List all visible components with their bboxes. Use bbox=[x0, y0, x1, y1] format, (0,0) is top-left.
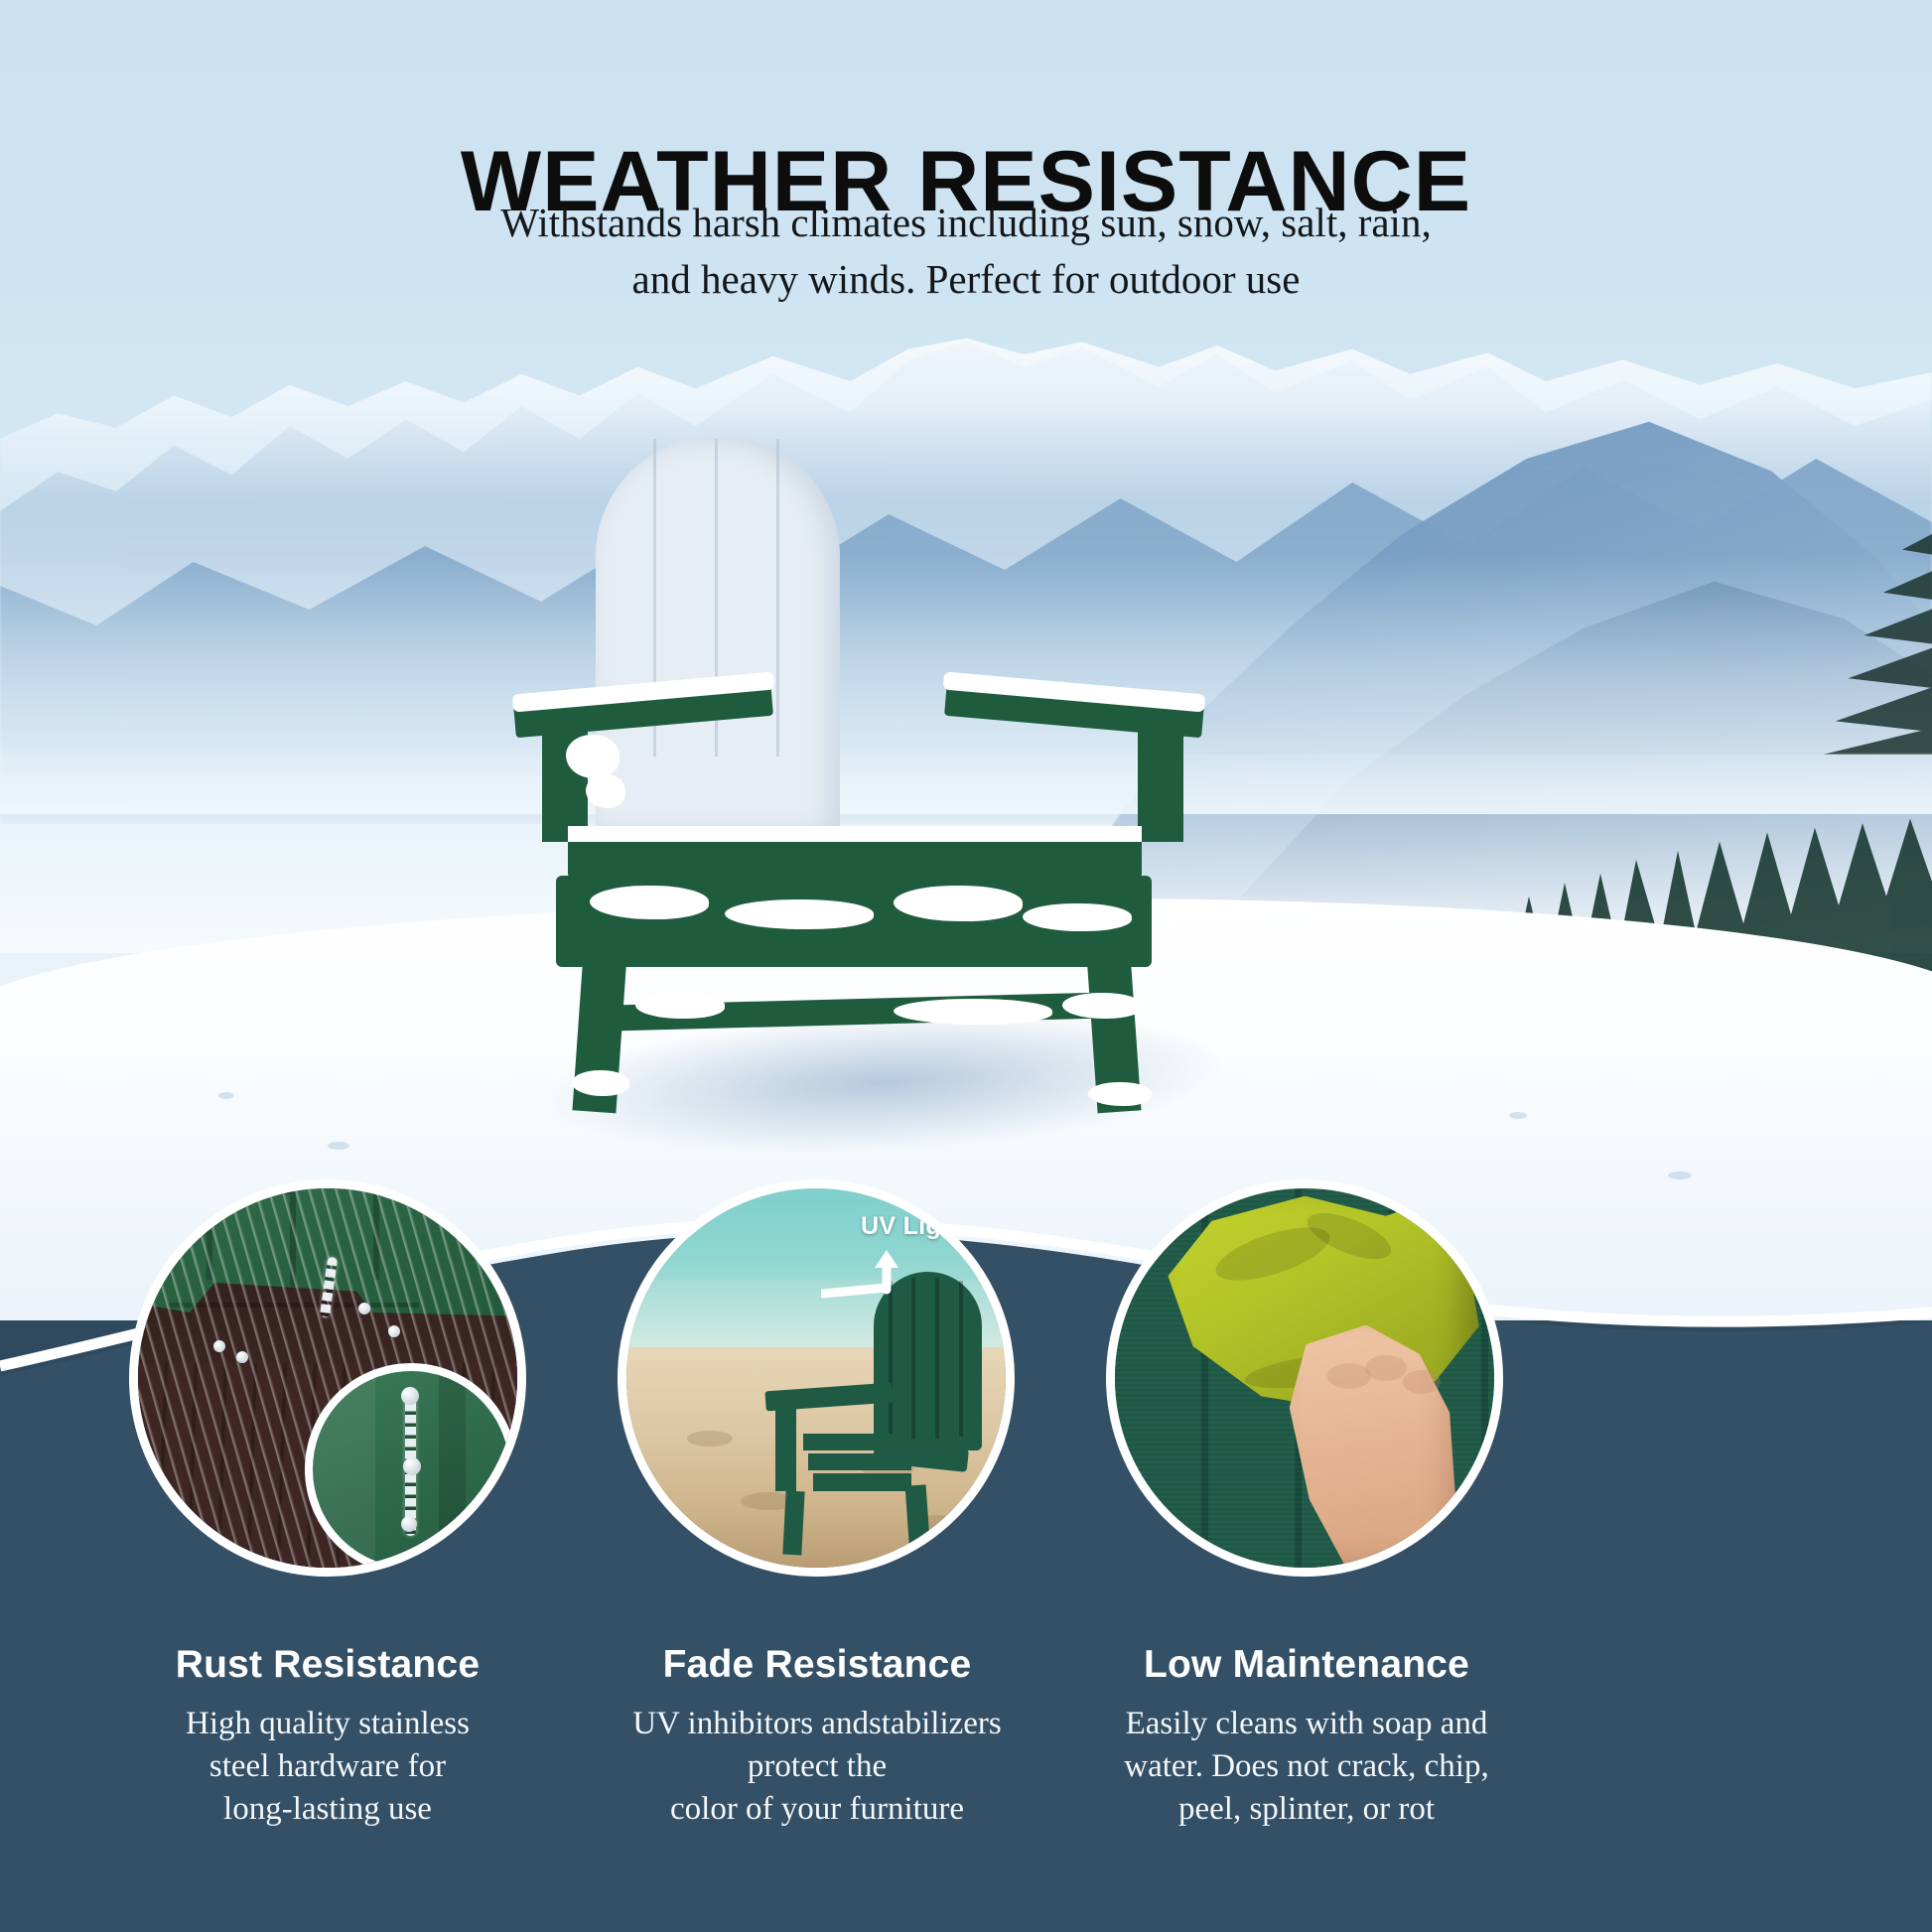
feature-desc-line: color of your furniture bbox=[559, 1788, 1075, 1831]
feature-block-fade-resistance: Fade Resistance UV inhibitors andstabili… bbox=[559, 1643, 1075, 1831]
subtitle-line-2: and heavy winds. Perfect for outdoor use bbox=[0, 251, 1932, 308]
chair-back-panel bbox=[596, 437, 840, 834]
feature-title-low-maintenance: Low Maintenance bbox=[1048, 1643, 1565, 1687]
page-subtitle: Withstands harsh climates including sun,… bbox=[0, 195, 1932, 307]
feature-desc-line: water. Does not crack, chip, bbox=[1048, 1745, 1565, 1788]
feature-image-fade-resistance: UV Light bbox=[618, 1179, 1015, 1577]
feature-desc-line: peel, splinter, or rot bbox=[1048, 1788, 1565, 1831]
feature-desc-rust-resistance: High quality stainless steel hardware fo… bbox=[69, 1703, 586, 1831]
feature-image-rust-resistance bbox=[129, 1179, 526, 1577]
feature-desc-line: steel hardware for bbox=[69, 1745, 586, 1788]
feature-desc-line: Easily cleans with soap and bbox=[1048, 1703, 1565, 1745]
infographic-root: UV Light WEATHER RESISTANCE Withstands h… bbox=[0, 0, 1932, 1932]
feature-desc-line: UV inhibitors andstabilizers bbox=[559, 1703, 1075, 1745]
feature-desc-line: High quality stainless bbox=[69, 1703, 586, 1745]
feature-block-rust-resistance: Rust Resistance High quality stainless s… bbox=[69, 1643, 586, 1831]
feature-desc-fade-resistance: UV inhibitors andstabilizers protect the… bbox=[559, 1703, 1075, 1831]
uv-light-arrow-icon bbox=[821, 1250, 908, 1306]
chain-closeup-inset bbox=[305, 1363, 517, 1576]
hero-chair bbox=[596, 437, 1291, 1092]
feature-desc-low-maintenance: Easily cleans with soap and water. Does … bbox=[1048, 1703, 1565, 1831]
chair-seat-snow bbox=[568, 826, 1142, 842]
feature-image-low-maintenance bbox=[1106, 1179, 1503, 1577]
subtitle-line-1: Withstands harsh climates including sun,… bbox=[0, 195, 1932, 251]
uv-light-label: UV Light bbox=[861, 1212, 965, 1241]
feature-title-fade-resistance: Fade Resistance bbox=[559, 1643, 1075, 1687]
feature-title-rust-resistance: Rust Resistance bbox=[69, 1643, 586, 1687]
feature-desc-line: long-lasting use bbox=[69, 1788, 586, 1831]
chair-arm-support-right bbox=[1138, 723, 1183, 842]
feature-desc-line: protect the bbox=[559, 1745, 1075, 1788]
beach-chair bbox=[770, 1272, 1006, 1560]
feature-block-low-maintenance: Low Maintenance Easily cleans with soap … bbox=[1048, 1643, 1565, 1831]
